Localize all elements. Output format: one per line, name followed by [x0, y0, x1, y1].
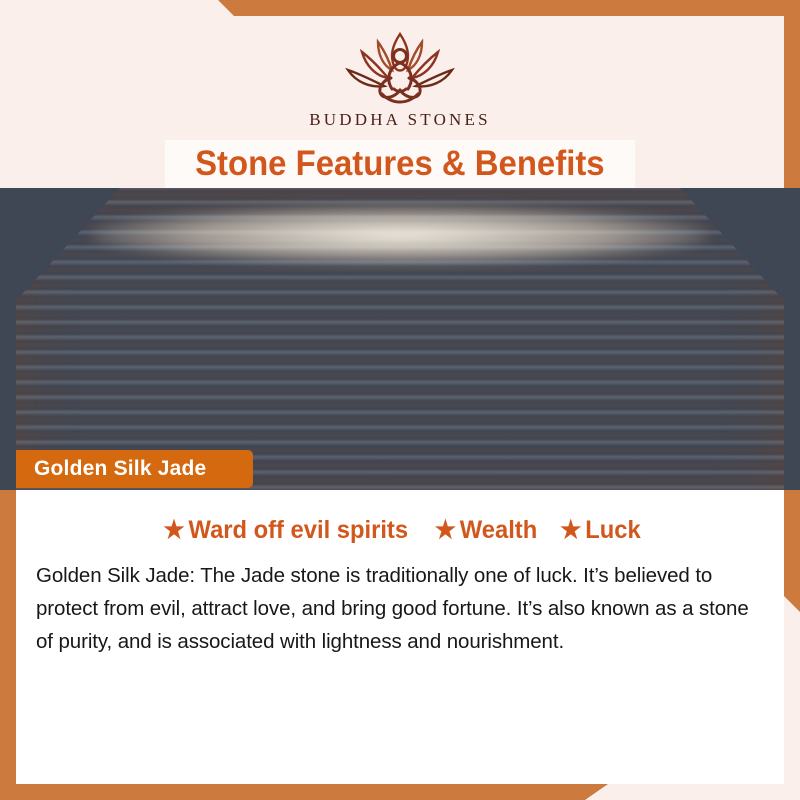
star-icon: ★: [163, 518, 184, 543]
frame-top-bar: [0, 0, 800, 16]
stone-name-label: Golden Silk Jade: [34, 457, 206, 481]
body-section: ★ Ward off evil spirits ★ Wealth ★ Luck …: [16, 490, 784, 784]
page-title: Stone Features & Benefits: [195, 144, 605, 184]
benefit-label: Ward off evil spirits: [188, 516, 408, 545]
star-icon: ★: [560, 518, 581, 543]
stone-description: Golden Silk Jade: The Jade stone is trad…: [36, 559, 764, 659]
benefit-item-1: ★ Wealth: [435, 516, 538, 545]
stone-name-banner: Golden Silk Jade: [16, 450, 253, 488]
lotus-meditation-icon: [334, 26, 466, 106]
brand-name: BUDDHA STONES: [309, 110, 491, 130]
stone-photo-image: [16, 188, 784, 490]
title-band: Stone Features & Benefits: [165, 140, 635, 188]
infographic-page: BUDDHA STONES Stone Features & Benefits …: [0, 0, 800, 800]
benefit-label: Luck: [586, 516, 641, 545]
brand-logo: BUDDHA STONES: [309, 26, 491, 130]
benefit-item-2: ★ Luck: [560, 516, 641, 545]
benefits-list: ★ Ward off evil spirits ★ Wealth ★ Luck: [16, 516, 784, 545]
frame-bottom-bar: [0, 784, 800, 800]
stone-photo: [0, 188, 800, 490]
star-icon: ★: [435, 518, 456, 543]
benefit-item-0: ★ Ward off evil spirits: [163, 516, 408, 545]
benefit-label: Wealth: [460, 516, 537, 545]
